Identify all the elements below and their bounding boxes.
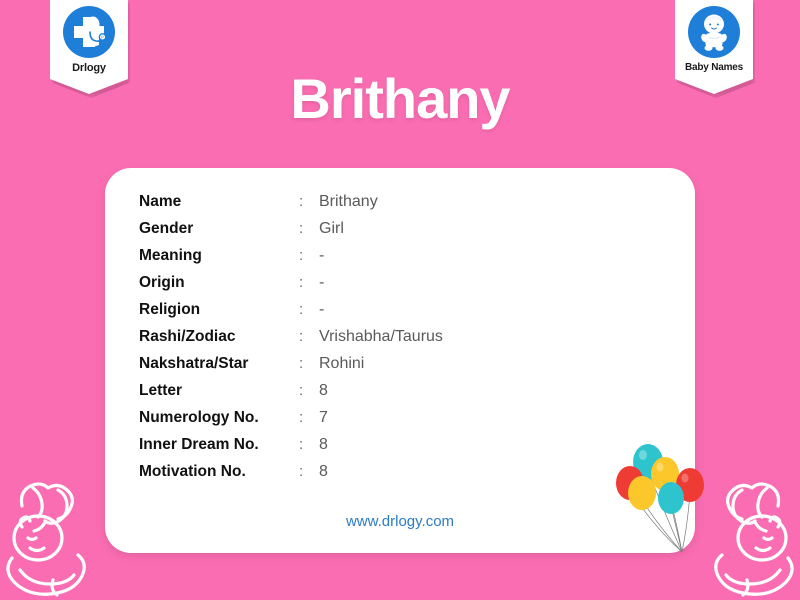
page-title: Brithany xyxy=(0,66,800,131)
row-value-name: Brithany xyxy=(319,193,378,211)
table-row: Inner Dream No. : 8 xyxy=(139,436,443,463)
site-url-link[interactable]: www.drlogy.com xyxy=(105,513,695,530)
row-separator: : xyxy=(299,436,319,453)
row-value-religion: - xyxy=(319,301,324,319)
row-label-letter: Letter xyxy=(139,382,299,400)
mother-and-baby-icon xyxy=(692,470,800,600)
row-separator: : xyxy=(299,274,319,291)
doctor-cross-icon: P xyxy=(63,6,115,58)
svg-text:P: P xyxy=(101,35,104,40)
row-value-inner-dream-no: 8 xyxy=(319,436,328,454)
row-value-letter: 8 xyxy=(319,382,328,400)
row-label-inner-dream-no: Inner Dream No. xyxy=(139,436,299,454)
row-separator: : xyxy=(299,301,319,318)
row-label-motivation-no: Motivation No. xyxy=(139,463,299,481)
table-row: Motivation No. : 8 xyxy=(139,463,443,490)
row-separator: : xyxy=(299,247,319,264)
row-value-motivation-no: 8 xyxy=(319,463,328,481)
table-row: Meaning : - xyxy=(139,247,443,274)
row-value-meaning: - xyxy=(319,247,324,265)
row-separator: : xyxy=(299,328,319,345)
name-details-table: Name : Brithany Gender : Girl Meaning : … xyxy=(139,193,443,490)
row-label-religion: Religion xyxy=(139,301,299,319)
row-label-name: Name xyxy=(139,193,299,211)
table-row: Religion : - xyxy=(139,301,443,328)
row-value-origin: - xyxy=(319,274,324,292)
row-value-numerology-no: 7 xyxy=(319,409,328,427)
baby-icon xyxy=(688,6,740,58)
row-separator: : xyxy=(299,463,319,480)
name-details-card: Name : Brithany Gender : Girl Meaning : … xyxy=(105,168,695,553)
table-row: Nakshatra/Star : Rohini xyxy=(139,355,443,382)
row-label-origin: Origin xyxy=(139,274,299,292)
row-separator: : xyxy=(299,220,319,237)
row-separator: : xyxy=(299,409,319,426)
row-separator: : xyxy=(299,355,319,372)
row-label-nakshatra-star: Nakshatra/Star xyxy=(139,355,299,373)
row-value-rashi-zodiac: Vrishabha/Taurus xyxy=(319,328,443,346)
name-info-poster: P Drlogy Baby Names Brithany Name xyxy=(0,0,800,600)
table-row: Numerology No. : 7 xyxy=(139,409,443,436)
table-row: Rashi/Zodiac : Vrishabha/Taurus xyxy=(139,328,443,355)
row-label-rashi-zodiac: Rashi/Zodiac xyxy=(139,328,299,346)
row-value-gender: Girl xyxy=(319,220,344,238)
table-row: Name : Brithany xyxy=(139,193,443,220)
row-separator: : xyxy=(299,193,319,210)
table-row: Letter : 8 xyxy=(139,382,443,409)
row-label-meaning: Meaning xyxy=(139,247,299,265)
row-value-nakshatra-star: Rohini xyxy=(319,355,364,373)
row-label-numerology-no: Numerology No. xyxy=(139,409,299,427)
row-label-gender: Gender xyxy=(139,220,299,238)
table-row: Gender : Girl xyxy=(139,220,443,247)
table-row: Origin : - xyxy=(139,274,443,301)
mother-and-baby-icon xyxy=(0,470,108,600)
row-separator: : xyxy=(299,382,319,399)
